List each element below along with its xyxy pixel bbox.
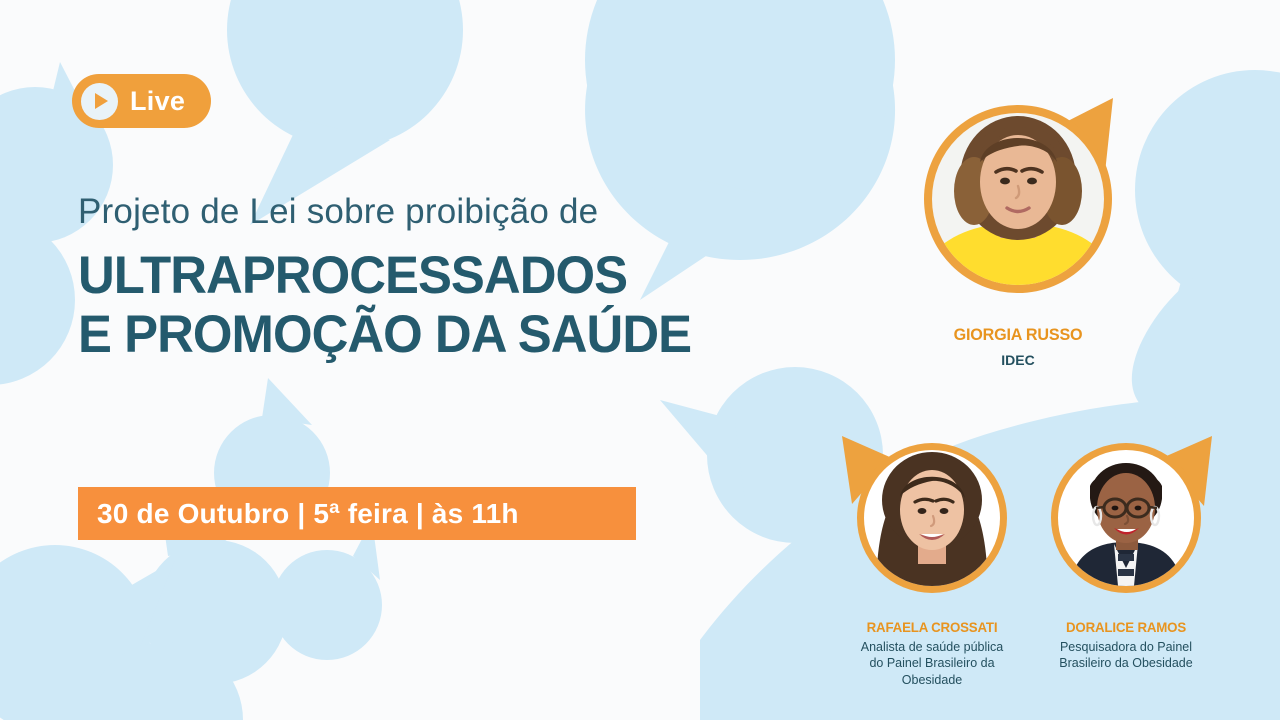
speaker-role-line: Analista de saúde pública xyxy=(836,639,1028,655)
speaker-role-line: Obesidade xyxy=(836,672,1028,688)
speaker-role-line: Brasileiro da Obesidade xyxy=(1030,655,1222,671)
speaker-card-doralice: DORALICE RAMOS Pesquisadora do Painel Br… xyxy=(1030,428,1222,672)
headline-block: Projeto de Lei sobre proibição de ULTRAP… xyxy=(78,190,717,364)
speaker-role-doralice: Pesquisadora do Painel Brasileiro da Obe… xyxy=(1030,639,1222,672)
speaker-name-rafaela: RAFAELA CROSSATI xyxy=(841,619,1023,635)
headline-title-line-1: ULTRAPROCESSADOS xyxy=(78,246,691,305)
speaker-role-line: IDEC xyxy=(908,351,1128,369)
avatar-frame-up-right-icon xyxy=(908,86,1128,311)
avatar-doralice xyxy=(1030,428,1222,608)
avatar-frame-up-left-icon xyxy=(836,428,1028,608)
date-banner-text: 30 de Outubro | 5ª feira | às 11h xyxy=(78,498,519,530)
live-badge[interactable]: Live xyxy=(72,74,211,128)
speaker-card-giorgia: GIORGIA RUSSO IDEC xyxy=(908,86,1128,369)
avatar-giorgia xyxy=(908,86,1128,311)
speaker-role-line: Pesquisadora do Painel xyxy=(1030,639,1222,655)
headline-title-line-2: E PROMOÇÃO DA SAÚDE xyxy=(78,305,691,364)
speaker-role-giorgia: IDEC xyxy=(908,351,1128,369)
speaker-role-line: do Painel Brasileiro da xyxy=(836,655,1028,671)
speaker-name-doralice: DORALICE RAMOS xyxy=(1035,619,1217,635)
play-icon xyxy=(81,83,118,120)
avatar-rafaela xyxy=(836,428,1028,608)
headline-kicker: Projeto de Lei sobre proibição de xyxy=(78,190,717,234)
date-banner: 30 de Outubro | 5ª feira | às 11h xyxy=(78,487,636,540)
speaker-name-giorgia: GIORGIA RUSSO xyxy=(914,325,1123,345)
poster-canvas: Live Projeto de Lei sobre proibição de U… xyxy=(0,0,1280,720)
speaker-card-rafaela: RAFAELA CROSSATI Analista de saúde públi… xyxy=(836,428,1028,688)
speaker-role-rafaela: Analista de saúde pública do Painel Bras… xyxy=(836,639,1028,688)
live-badge-label: Live xyxy=(130,88,185,115)
avatar-frame-up-right-icon xyxy=(1030,428,1222,608)
